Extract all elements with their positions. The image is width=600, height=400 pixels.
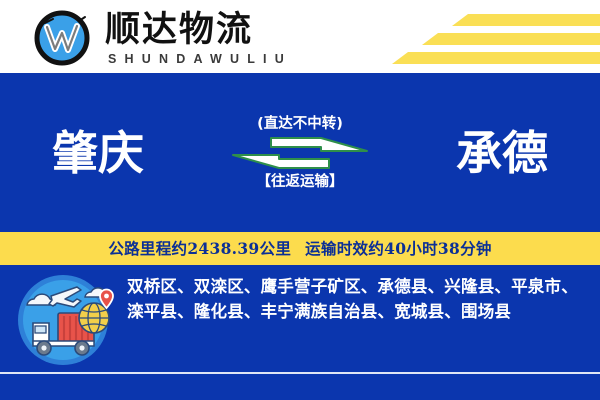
bidirectional-arrow-icon [229,136,371,170]
brand-name-en: SHUNDAWULIU [105,51,292,67]
direct-service-note: (直达不中转) [257,115,343,133]
truck-globe-airplane-icon [0,265,125,372]
route-info-bar: 公路里程约2438.39公里运输时效约40小时38分钟 [0,232,600,265]
banner-header: 顺达物流 SHUNDAWULIU [0,0,600,73]
route-section: 肇庆 (直达不中转) 【往返运输】 承德 [0,73,600,232]
district-list: 双桥区、双滦区、鹰手营子矿区、承德县、兴隆县、平泉市、滦平县、隆化县、丰宁满族自… [125,265,600,324]
coverage-section: 双桥区、双滦区、鹰手营子矿区、承德县、兴隆县、平泉市、滦平县、隆化县、丰宁满族自… [0,265,600,372]
round-trip-note: 【往返运输】 [257,173,344,191]
duration-label: 运输时效约40小时38分钟 [305,239,492,258]
info-bar-content: 公路里程约2438.39公里运输时效约40小时38分钟 [108,241,491,257]
banner-footer [0,374,600,400]
brand-logo: 顺达物流 SHUNDAWULIU [33,9,292,67]
distance-label: 公路里程约2438.39公里 [108,239,291,258]
logistics-route-banner: 顺达物流 SHUNDAWULIU 肇庆 (直达不中转) 【往返运输】 [0,0,600,400]
circular-swoosh-logo-icon [33,9,91,67]
decorative-stripes [340,0,600,73]
brand-name-cn: 顺达物流 [105,10,292,50]
brand-text-block: 顺达物流 SHUNDAWULIU [105,10,292,67]
route-middle: (直达不中转) 【往返运输】 [225,115,375,191]
origin-city: 肇庆 [52,130,144,176]
destination-city: 承德 [456,130,548,176]
